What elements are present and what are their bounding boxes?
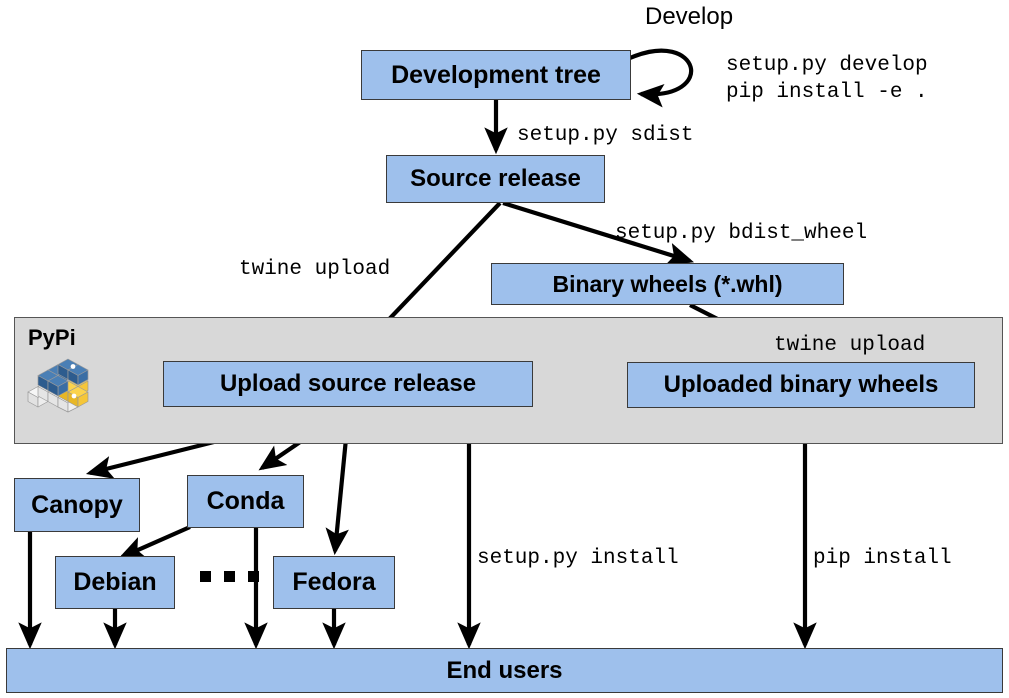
label-twine-upload-wheels: twine upload: [774, 332, 925, 359]
pypi-python-cubes-logo: [25, 352, 95, 414]
node-end-users-label: End users: [446, 657, 562, 685]
node-uploaded-binary-wheels-label: Uploaded binary wheels: [664, 371, 939, 399]
ellipsis-dot-1: [200, 571, 211, 582]
node-conda-label: Conda: [207, 487, 285, 516]
node-canopy-label: Canopy: [31, 491, 123, 520]
node-binary-wheels-label: Binary wheels (*.whl): [552, 271, 782, 298]
label-twine-upload-source: twine upload: [239, 256, 390, 283]
label-develop: Develop: [645, 3, 733, 31]
label-pip-install: pip install: [813, 545, 952, 572]
node-canopy[interactable]: Canopy: [14, 478, 140, 532]
node-binary-wheels[interactable]: Binary wheels (*.whl): [491, 263, 844, 305]
node-conda[interactable]: Conda: [187, 475, 304, 528]
ellipsis-dot-3: [248, 571, 259, 582]
node-fedora[interactable]: Fedora: [273, 556, 395, 609]
packaging-flow-diagram: PyPi: [0, 0, 1009, 698]
label-setup-py-bdist-wheel: setup.py bdist_wheel: [615, 220, 867, 247]
label-develop-commands: setup.py develop pip install -e .: [726, 52, 928, 106]
node-debian[interactable]: Debian: [55, 556, 175, 609]
edge-develop-selfloop: [630, 51, 691, 95]
ellipsis-dot-2: [224, 571, 235, 582]
node-end-users[interactable]: End users: [6, 648, 1003, 693]
node-source-release[interactable]: Source release: [386, 155, 605, 203]
node-upload-source-release[interactable]: Upload source release: [163, 361, 533, 407]
node-debian-label: Debian: [73, 568, 156, 597]
label-setup-py-sdist: setup.py sdist: [517, 122, 693, 149]
node-source-release-label: Source release: [410, 165, 581, 193]
node-upload-source-release-label: Upload source release: [220, 370, 476, 398]
ellipsis-dots: [200, 571, 259, 582]
pypi-panel-label: PyPi: [28, 325, 76, 351]
label-setup-py-install: setup.py install: [477, 545, 679, 572]
node-development-tree[interactable]: Development tree: [361, 50, 631, 100]
node-development-tree-label: Development tree: [391, 61, 601, 90]
node-uploaded-binary-wheels[interactable]: Uploaded binary wheels: [627, 362, 975, 408]
node-fedora-label: Fedora: [292, 568, 375, 597]
